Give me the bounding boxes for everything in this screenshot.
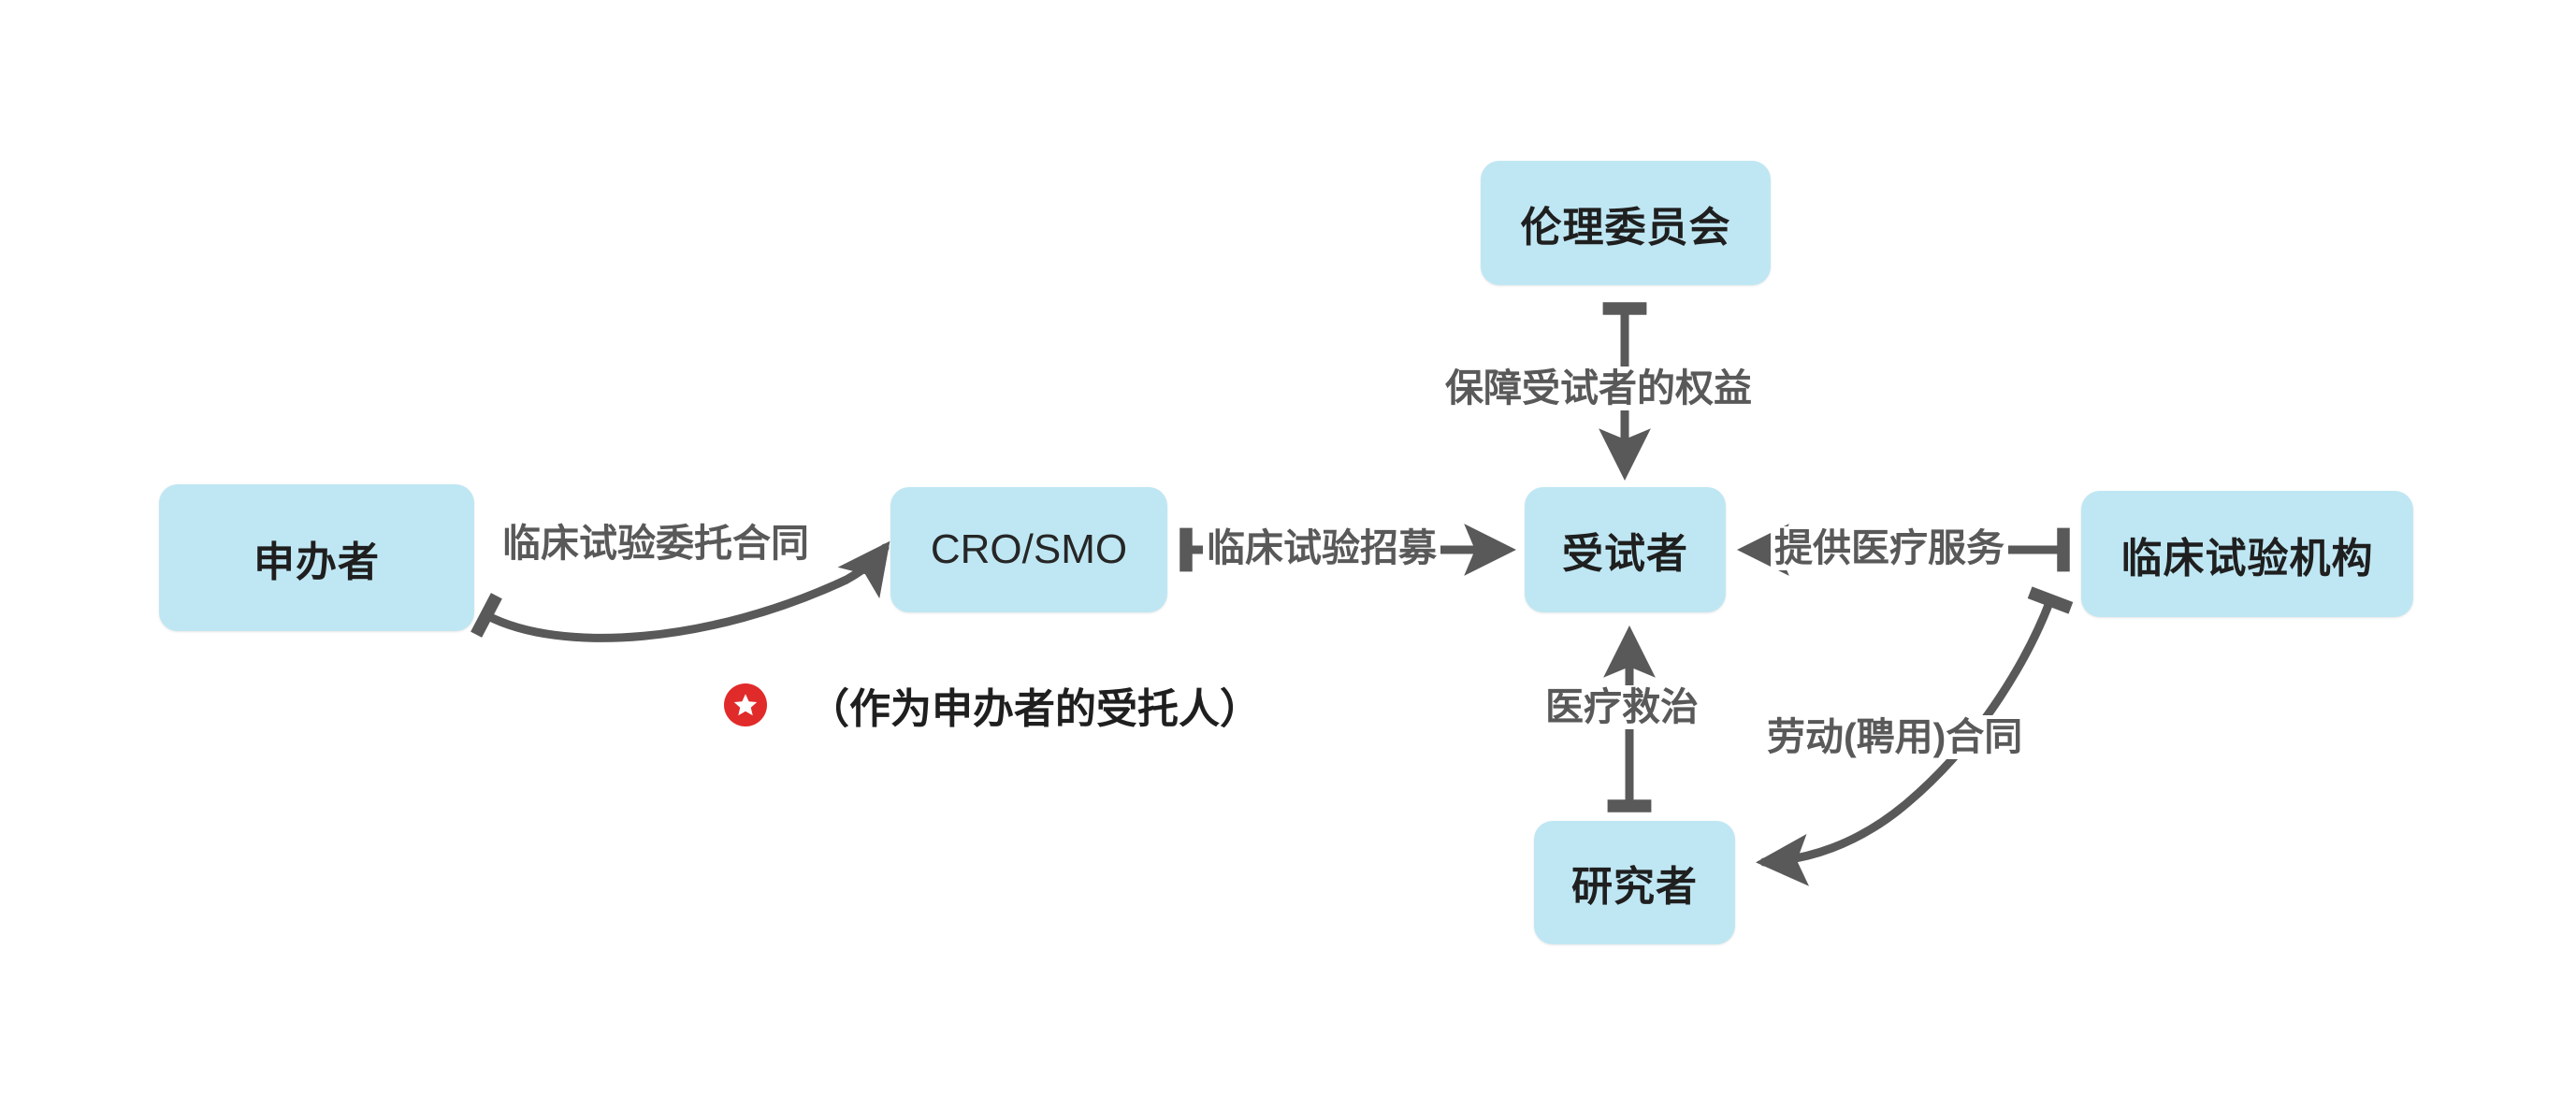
node-clinical-trial-institution[interactable]: 临床试验机构	[2081, 491, 2413, 617]
node-subject[interactable]: 受试者	[1525, 487, 1726, 612]
star-badge-icon	[724, 683, 767, 726]
edge-label-researcher-to-subject: 医疗救治	[1541, 685, 1702, 729]
node-label: 申办者	[253, 528, 380, 588]
node-ethics-committee[interactable]: 伦理委员会	[1481, 161, 1771, 285]
node-label: 伦理委员会	[1521, 194, 1731, 253]
node-label: 研究者	[1571, 853, 1698, 913]
edge-label-cro-to-subject: 临床试验招募	[1203, 526, 1440, 570]
edge-label-sponsor-to-cro: 临床试验委托合同	[499, 522, 813, 566]
node-researcher[interactable]: 研究者	[1534, 821, 1735, 944]
node-sponsor[interactable]: 申办者	[159, 484, 474, 631]
edge-label-ethics-to-subject: 保障受试者的权益	[1441, 367, 1756, 410]
node-label: 临床试验机构	[2121, 525, 2374, 584]
diagram-canvas: 伦理委员会 申办者 CRO/SMO 受试者 临床试验机构 研究者 临床试验委托合…	[0, 0, 2576, 1107]
node-cro-smo[interactable]: CRO/SMO	[890, 487, 1167, 612]
edge-label-site-to-researcher: 劳动(聘用)合同	[1763, 715, 2026, 759]
edge-label-site-to-subject: 提供医疗服务	[1771, 526, 2008, 570]
annotation-trustee-note: （作为申办者的受托人）	[724, 675, 1261, 735]
node-label: 受试者	[1562, 520, 1688, 580]
annotation-text: （作为申办者的受托人）	[808, 675, 1261, 735]
node-label: CRO/SMO	[931, 526, 1127, 573]
